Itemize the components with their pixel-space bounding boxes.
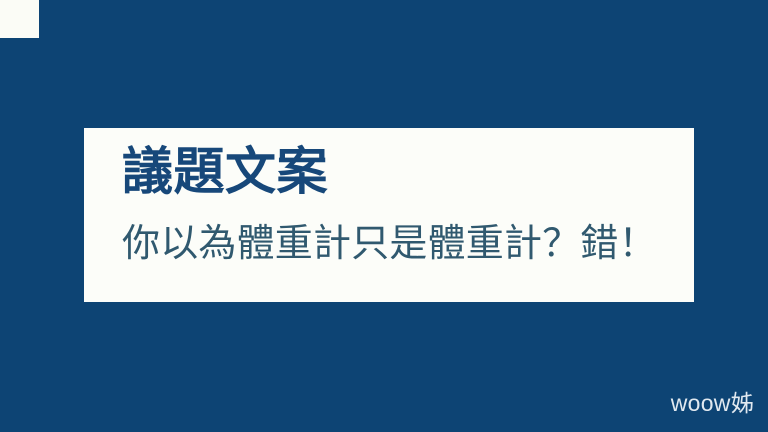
page-subtitle: 你以為體重計只是體重計？錯！ xyxy=(122,222,657,267)
presentation-slide: 議題文案 你以為體重計只是體重計？錯！ woow姊 xyxy=(0,0,768,432)
brand-watermark: woow姊 xyxy=(671,392,754,415)
page-title: 議題文案 xyxy=(122,143,328,200)
content-card: 議題文案 你以為體重計只是體重計？錯！ xyxy=(84,128,694,302)
corner-accent-block xyxy=(0,0,39,38)
